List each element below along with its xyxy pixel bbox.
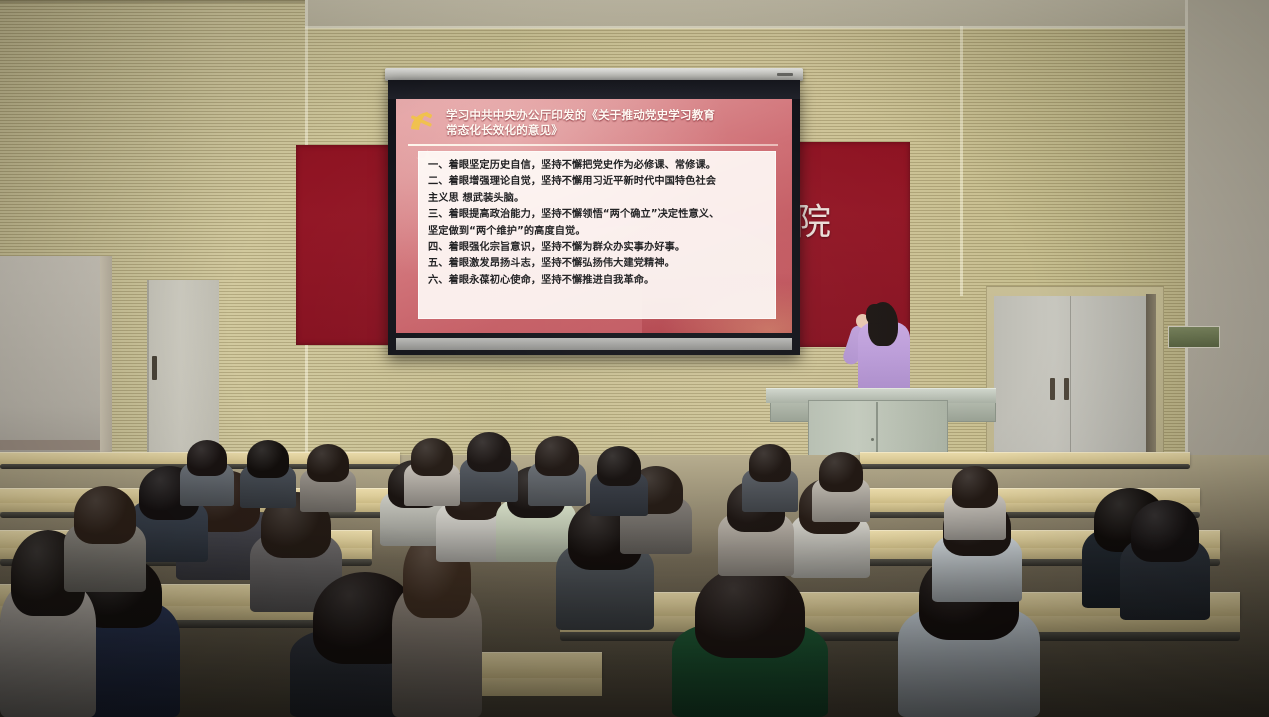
student — [812, 452, 870, 522]
student — [590, 446, 648, 516]
student-head — [695, 566, 805, 658]
door-handles[interactable] — [1050, 378, 1076, 400]
student — [742, 444, 798, 512]
screen-top-band — [388, 80, 800, 99]
title-underline — [408, 144, 778, 146]
student — [1120, 500, 1210, 620]
slide-item: 三、着眼提高政治能力，坚持不懈领悟“两个确立”决定性意义、 — [428, 207, 766, 223]
student-head — [247, 440, 289, 478]
red-banner-left — [296, 145, 400, 345]
student-head — [467, 432, 511, 472]
slide-item: 四、着眼强化宗旨意识，坚持不懈为群众办实事办好事。 — [428, 240, 766, 256]
wall-seam — [1185, 0, 1188, 470]
slide-item: 坚定做到“两个维护”的高度自觉。 — [428, 224, 766, 240]
student — [64, 486, 146, 592]
slide-item: 五、着眼激发昂扬斗志，坚持不懈弘扬伟大建党精神。 — [428, 256, 766, 272]
student-head — [1131, 500, 1199, 562]
student-head — [411, 438, 453, 476]
wall-shadow — [0, 0, 305, 3]
slide-title-line-1: 学习中共中央办公厅印发的《关于推动党史学习教育 — [446, 108, 782, 123]
door-handle[interactable] — [1064, 378, 1069, 400]
wall-seam — [305, 26, 1185, 29]
student — [944, 466, 1006, 540]
student — [460, 432, 518, 502]
student-head — [535, 436, 579, 476]
door-handle[interactable] — [152, 356, 157, 380]
wall-seam — [960, 26, 963, 296]
slide-item: 二、着眼增强理论自觉，坚持不懈用习近平新时代中国特色社会 — [428, 174, 766, 190]
lecture-hall-photo: 院 学习中共中央办公厅印发的《关于推动党史学习教育 常态化长效化的意见》 ★ 一… — [0, 0, 1269, 717]
slide-item: 六、着眼永葆初心使命，坚持不懈推进自我革命。 — [428, 273, 766, 289]
left-wall-skirting — [0, 440, 101, 450]
left-wall-recess — [0, 256, 101, 471]
door-handle[interactable] — [1050, 378, 1055, 400]
room-sign — [1168, 326, 1220, 348]
student-head — [819, 452, 863, 492]
student — [528, 436, 586, 506]
student-head — [952, 466, 998, 508]
presenter-hair-front — [866, 304, 882, 324]
presentation-slide: 学习中共中央办公厅印发的《关于推动党史学习教育 常态化长效化的意见》 ★ 一、着… — [396, 99, 792, 333]
upper-wall-band — [305, 0, 1185, 28]
student-head — [74, 486, 136, 544]
podium-knob — [871, 438, 874, 441]
projection-screen: 学习中共中央办公厅印发的《关于推动党史学习教育 常态化长效化的意见》 ★ 一、着… — [388, 80, 800, 355]
student — [672, 566, 828, 717]
hammer-and-sickle-emblem — [406, 109, 440, 137]
casing-marking — [777, 73, 793, 76]
student-head — [749, 444, 791, 482]
slide-title-line-2: 常态化长效化的意见》 — [446, 123, 782, 138]
student — [180, 440, 234, 506]
slide-title: 学习中共中央办公厅印发的《关于推动党史学习教育 常态化长效化的意见》 — [446, 108, 782, 138]
student-head — [187, 440, 227, 476]
screen-bottom-bar — [396, 338, 792, 350]
student — [404, 438, 460, 506]
student-head — [307, 444, 349, 482]
slide-item: 一、着眼坚定历史自信，坚持不懈把党史作为必修课、常修课。 — [428, 158, 766, 174]
student-head — [597, 446, 641, 486]
student — [240, 440, 296, 508]
left-door-frame — [100, 256, 112, 471]
seat-back-rail — [860, 464, 1190, 469]
banner-character: 院 — [795, 205, 845, 241]
slide-item: 主义思 想武装头脑。 — [428, 191, 766, 207]
slide-body: 一、着眼坚定历史自信，坚持不懈把党史作为必修课、常修课。 二、着眼增强理论自觉，… — [418, 151, 776, 319]
student — [300, 444, 356, 512]
